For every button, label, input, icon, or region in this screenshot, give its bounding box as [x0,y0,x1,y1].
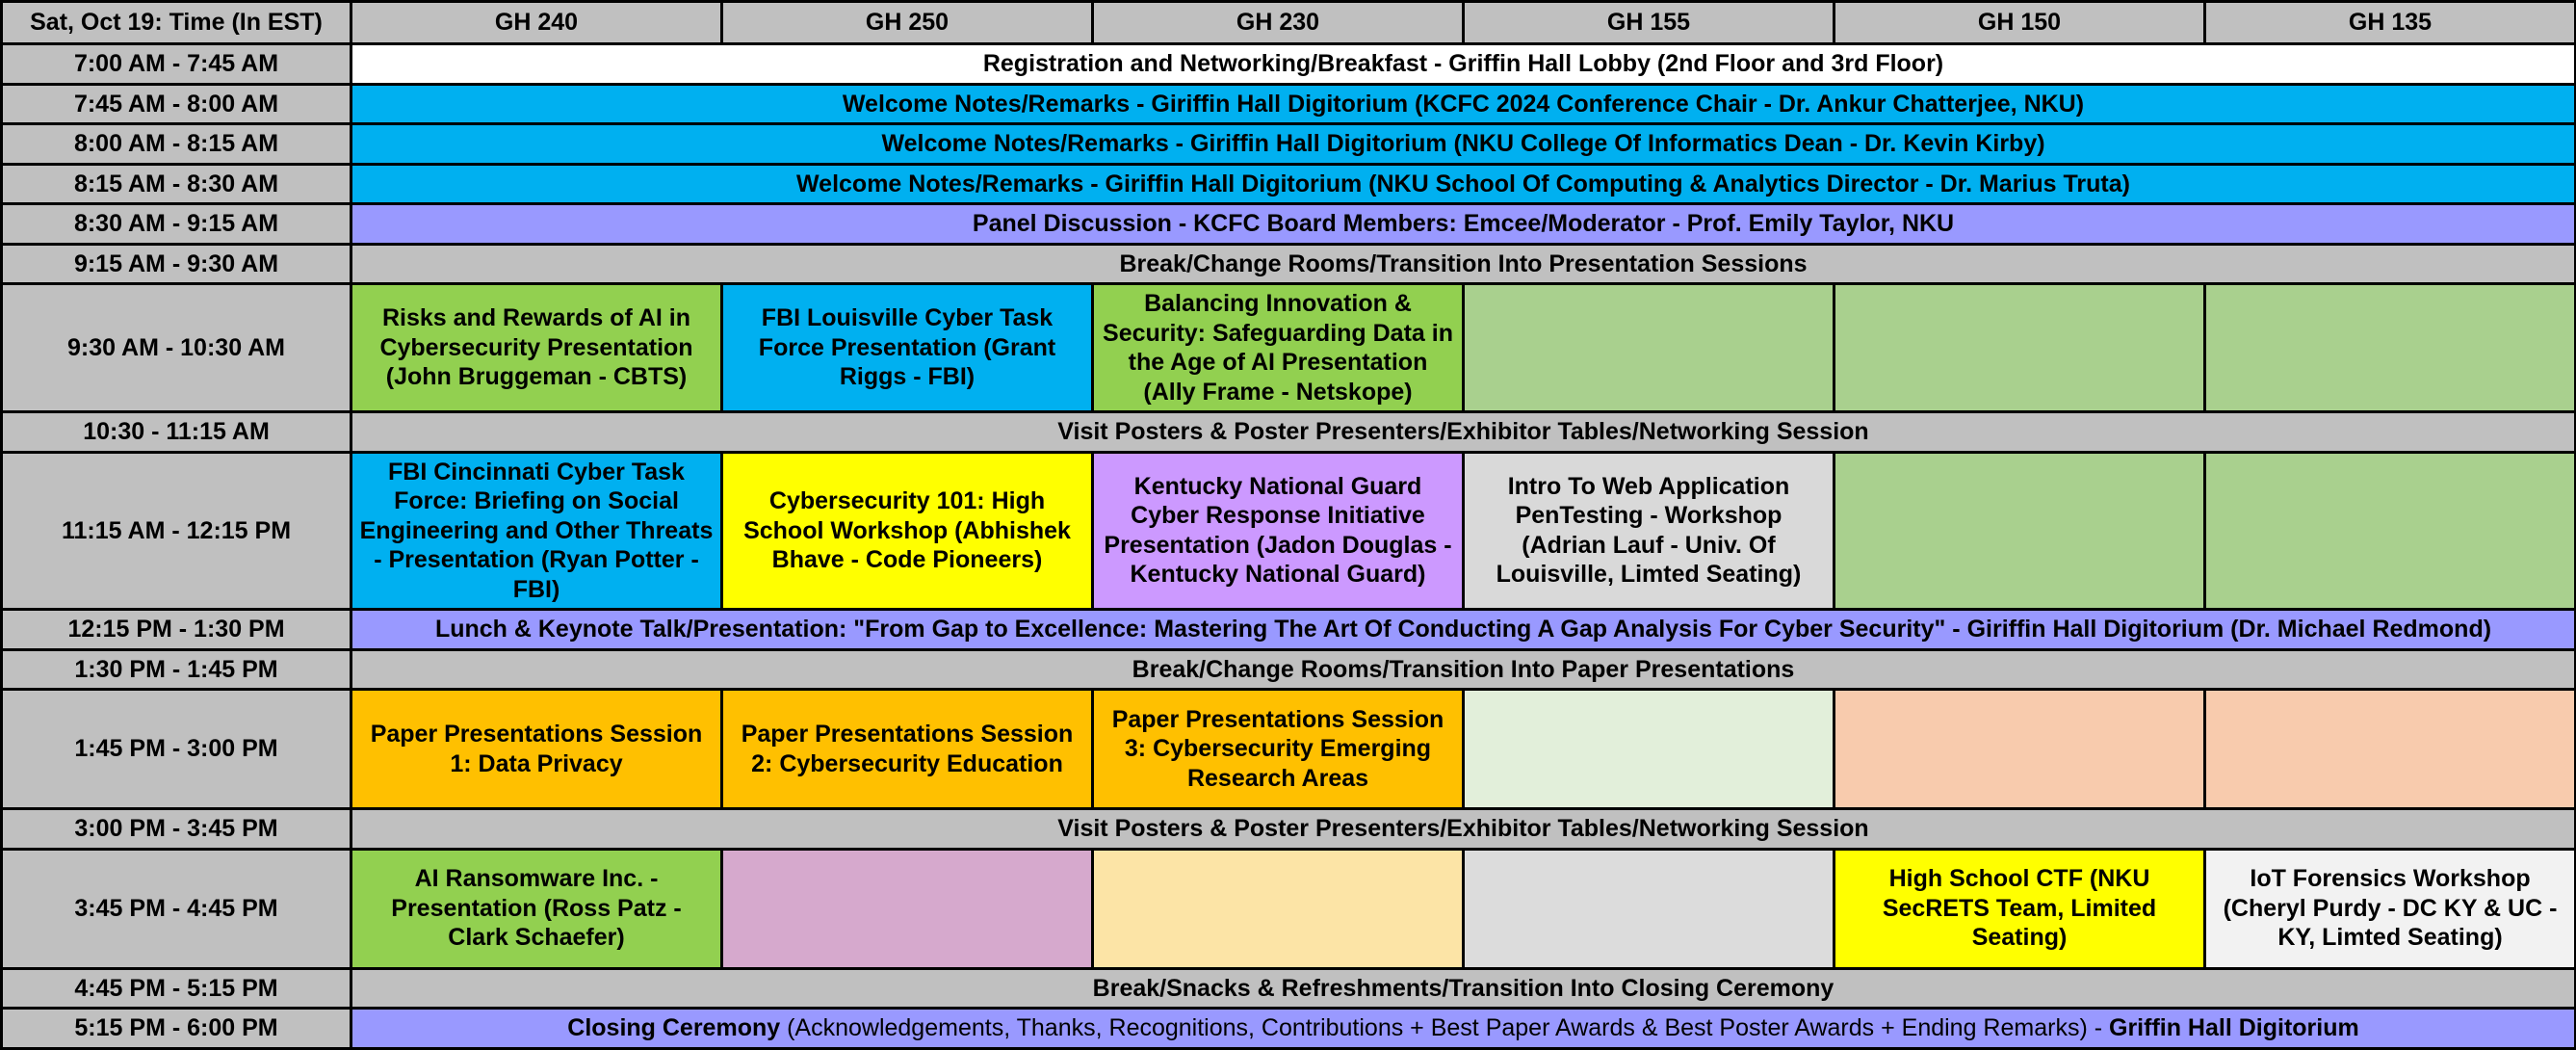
table-body: 7:00 AM - 7:45 AMRegistration and Networ… [2,44,2576,1049]
schedule-row: 4:45 PM - 5:15 PMBreak/Snacks & Refreshm… [2,968,2576,1009]
time-slot-cell: 8:15 AM - 8:30 AM [2,164,351,204]
column-header-gh135: GH 135 [2205,2,2576,44]
time-slot-cell: 1:30 PM - 1:45 PM [2,649,351,690]
time-slot-cell: 9:15 AM - 9:30 AM [2,244,351,284]
session-cell: Paper Presentations Session 3: Cybersecu… [1093,690,1464,809]
schedule-row: 1:30 PM - 1:45 PMBreak/Change Rooms/Tran… [2,649,2576,690]
time-slot-cell: 3:00 PM - 3:45 PM [2,809,351,850]
empty-session-cell [2205,452,2576,610]
table-header-row: Sat, Oct 19: Time (In EST)GH 240GH 250GH… [2,2,2576,44]
column-header-gh155: GH 155 [1464,2,1834,44]
session-cell: Cybersecurity 101: High School Workshop … [722,452,1093,610]
banner-session-cell: Welcome Notes/Remarks - Giriffin Hall Di… [351,164,2576,204]
column-header-gh250: GH 250 [722,2,1093,44]
session-cell: Intro To Web Application PenTesting - Wo… [1464,452,1834,610]
banner-session-cell: Welcome Notes/Remarks - Giriffin Hall Di… [351,84,2576,124]
banner-session-cell: Lunch & Keynote Talk/Presentation: "From… [351,610,2576,650]
time-slot-cell: 7:00 AM - 7:45 AM [2,44,351,85]
session-cell: Paper Presentations Session 1: Data Priv… [351,690,722,809]
session-cell: FBI Louisville Cyber Task Force Presenta… [722,284,1093,412]
empty-session-cell [1464,690,1834,809]
session-cell: Kentucky National Guard Cyber Response I… [1093,452,1464,610]
schedule-row: 9:30 AM - 10:30 AMRisks and Rewards of A… [2,284,2576,412]
conference-schedule-table: Sat, Oct 19: Time (In EST)GH 240GH 250GH… [0,0,2576,1050]
schedule-row: 3:00 PM - 3:45 PMVisit Posters & Poster … [2,809,2576,850]
session-cell: Risks and Rewards of AI in Cybersecurity… [351,284,722,412]
column-header-time: Sat, Oct 19: Time (In EST) [2,2,351,44]
time-slot-cell: 9:30 AM - 10:30 AM [2,284,351,412]
time-slot-cell: 12:15 PM - 1:30 PM [2,610,351,650]
empty-session-cell [1464,284,1834,412]
time-slot-cell: 8:00 AM - 8:15 AM [2,124,351,165]
empty-session-cell [2205,284,2576,412]
column-header-gh230: GH 230 [1093,2,1464,44]
banner-session-cell: Break/Change Rooms/Transition Into Prese… [351,244,2576,284]
session-cell: High School CTF (NKU SecRETS Team, Limit… [1834,849,2205,968]
schedule-row: 10:30 - 11:15 AMVisit Posters & Poster P… [2,412,2576,453]
empty-session-cell [1834,452,2205,610]
session-cell: IoT Forensics Workshop (Cheryl Purdy - D… [2205,849,2576,968]
banner-text-part: Griffin Hall Digitorium [2109,1014,2359,1041]
column-header-gh150: GH 150 [1834,2,2205,44]
session-cell: AI Ransomware Inc. - Presentation (Ross … [351,849,722,968]
schedule-row: 9:15 AM - 9:30 AMBreak/Change Rooms/Tran… [2,244,2576,284]
banner-session-cell: Panel Discussion - KCFC Board Members: E… [351,204,2576,245]
empty-session-cell [1093,849,1464,968]
schedule-row: 8:30 AM - 9:15 AMPanel Discussion - KCFC… [2,204,2576,245]
schedule-row: 8:15 AM - 8:30 AMWelcome Notes/Remarks -… [2,164,2576,204]
banner-session-cell: Break/Change Rooms/Transition Into Paper… [351,649,2576,690]
session-cell: Balancing Innovation & Security: Safegua… [1093,284,1464,412]
time-slot-cell: 4:45 PM - 5:15 PM [2,968,351,1009]
session-cell: Paper Presentations Session 2: Cybersecu… [722,690,1093,809]
banner-session-cell: Visit Posters & Poster Presenters/Exhibi… [351,809,2576,850]
banner-session-cell: Break/Snacks & Refreshments/Transition I… [351,968,2576,1009]
schedule-row: 7:00 AM - 7:45 AMRegistration and Networ… [2,44,2576,85]
time-slot-cell: 5:15 PM - 6:00 PM [2,1009,351,1049]
schedule-row: 7:45 AM - 8:00 AMWelcome Notes/Remarks -… [2,84,2576,124]
column-header-gh240: GH 240 [351,2,722,44]
schedule-row: 8:00 AM - 8:15 AMWelcome Notes/Remarks -… [2,124,2576,165]
empty-session-cell [722,849,1093,968]
empty-session-cell [1834,284,2205,412]
time-slot-cell: 7:45 AM - 8:00 AM [2,84,351,124]
banner-session-cell: Registration and Networking/Breakfast - … [351,44,2576,85]
time-slot-cell: 3:45 PM - 4:45 PM [2,849,351,968]
time-slot-cell: 1:45 PM - 3:00 PM [2,690,351,809]
session-cell: FBI Cincinnati Cyber Task Force: Briefin… [351,452,722,610]
schedule-row: 1:45 PM - 3:00 PMPaper Presentations Ses… [2,690,2576,809]
banner-session-cell: Welcome Notes/Remarks - Giriffin Hall Di… [351,124,2576,165]
empty-session-cell [1464,849,1834,968]
banner-session-cell: Closing Ceremony (Acknowledgements, Than… [351,1009,2576,1049]
time-slot-cell: 11:15 AM - 12:15 PM [2,452,351,610]
schedule-row: 3:45 PM - 4:45 PMAI Ransomware Inc. - Pr… [2,849,2576,968]
schedule-row: 11:15 AM - 12:15 PMFBI Cincinnati Cyber … [2,452,2576,610]
time-slot-cell: 10:30 - 11:15 AM [2,412,351,453]
banner-session-cell: Visit Posters & Poster Presenters/Exhibi… [351,412,2576,453]
empty-session-cell [2205,690,2576,809]
schedule-row: 12:15 PM - 1:30 PMLunch & Keynote Talk/P… [2,610,2576,650]
schedule-row: 5:15 PM - 6:00 PMClosing Ceremony (Ackno… [2,1009,2576,1049]
banner-text-part: (Acknowledgements, Thanks, Recognitions,… [780,1014,2109,1041]
empty-session-cell [1834,690,2205,809]
time-slot-cell: 8:30 AM - 9:15 AM [2,204,351,245]
banner-text-part: Closing Ceremony [567,1014,780,1041]
